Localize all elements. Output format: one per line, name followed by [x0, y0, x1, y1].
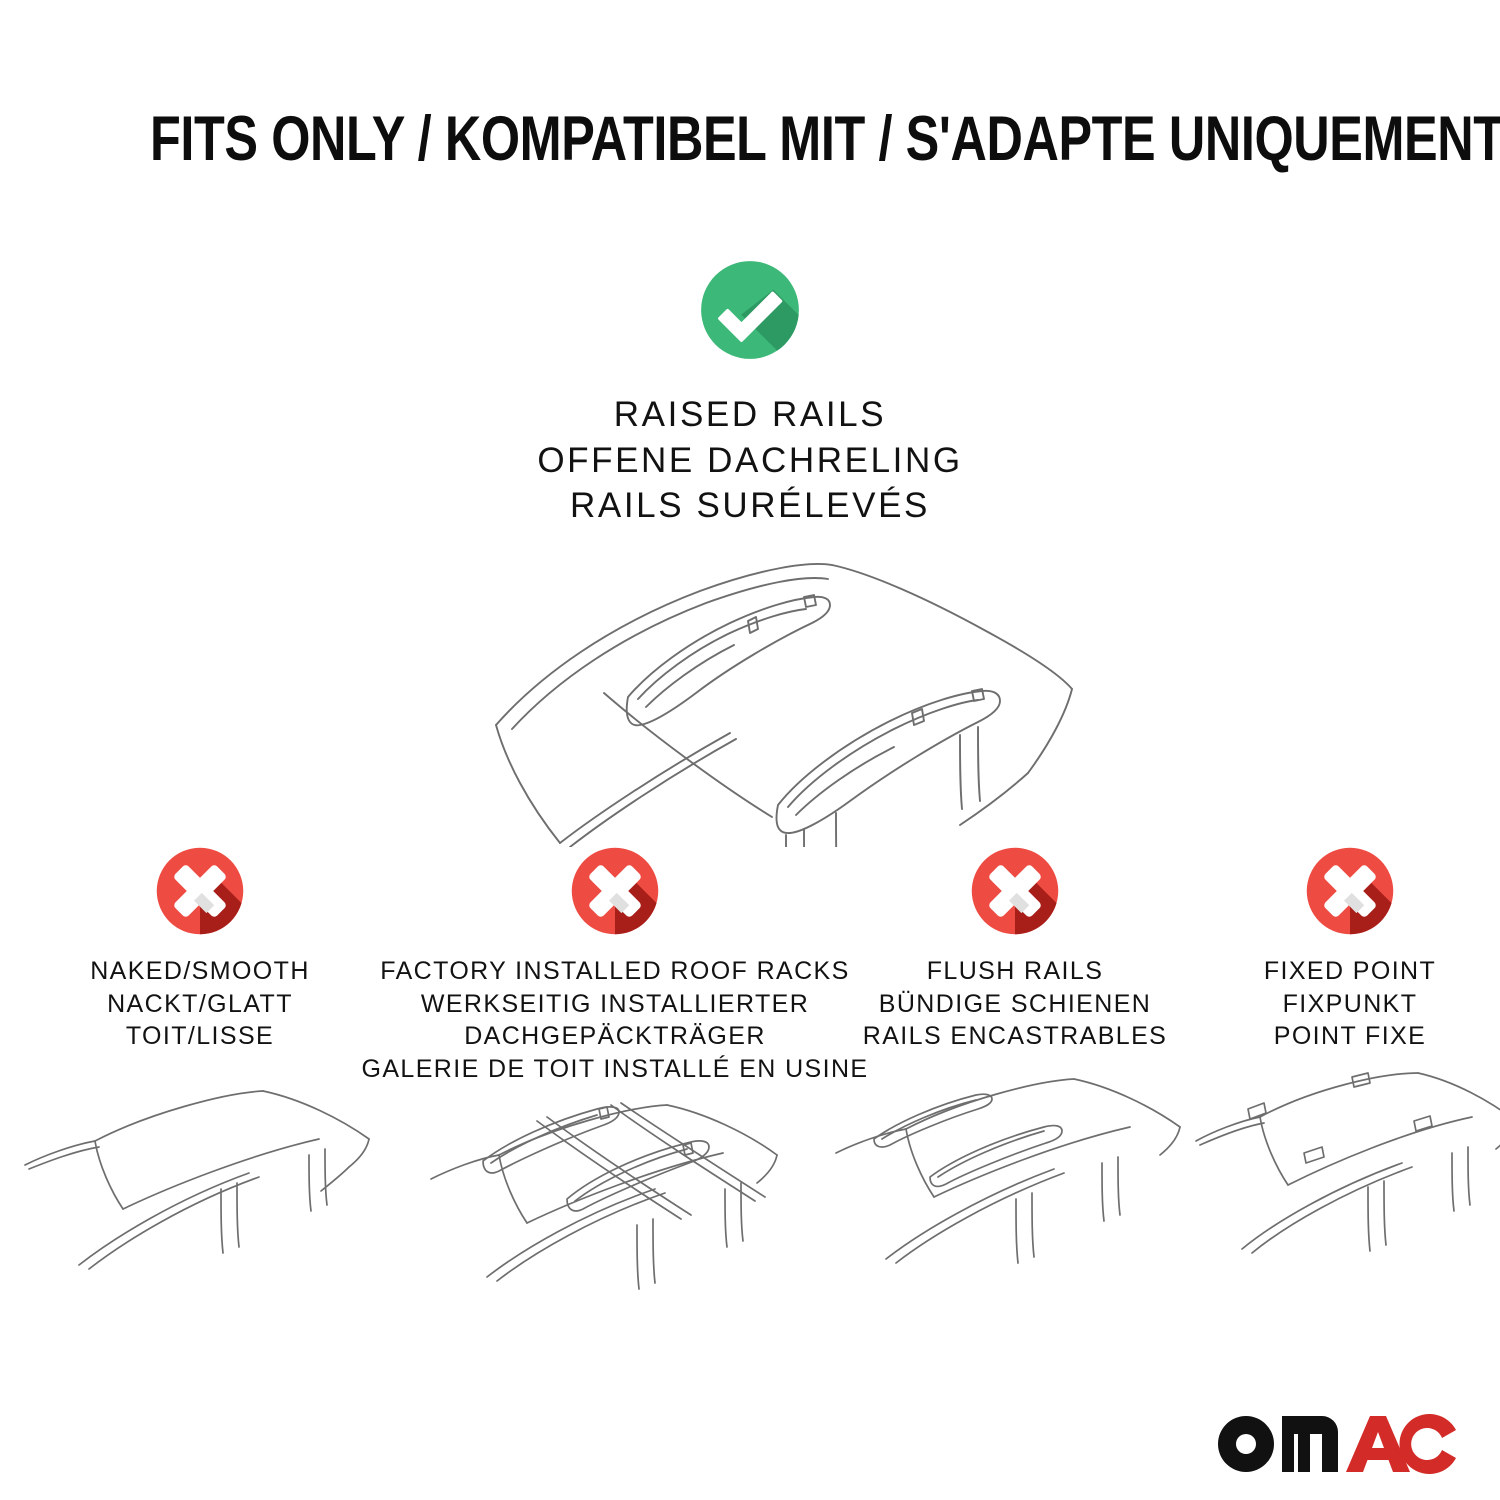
- omac-logo: [1210, 1408, 1460, 1478]
- label-fr: TOIT/LISSE: [90, 1020, 310, 1053]
- car-roof-fixed-point-illustration: [1190, 1069, 1500, 1299]
- car-roof-raised-rails-illustration: [400, 547, 1100, 847]
- label-en: FLUSH RAILS: [863, 955, 1167, 988]
- incompatible-labels: FIXED POINT FIXPUNKT POINT FIXE: [1264, 955, 1436, 1053]
- label-fr: POINT FIXE: [1264, 1020, 1436, 1053]
- incompatible-labels: FLUSH RAILS BÜNDIGE SCHIENEN RAILS ENCAS…: [863, 955, 1167, 1053]
- logo-letter-c: [1399, 1414, 1456, 1474]
- incompatible-item-flush-rails: FLUSH RAILS BÜNDIGE SCHIENEN RAILS ENCAS…: [830, 845, 1200, 1299]
- logo-letter-m: [1282, 1416, 1338, 1472]
- compatible-labels: RAISED RAILS OFFENE DACHRELING RAILS SUR…: [537, 392, 962, 529]
- cross-circle-icon: [154, 845, 246, 937]
- incompatible-labels: FACTORY INSTALLED ROOF RACKS WERKSEITIG …: [362, 955, 869, 1085]
- label-en: FACTORY INSTALLED ROOF RACKS: [362, 955, 869, 988]
- label-de-2: DACHGEPÄCKTRÄGER: [362, 1020, 869, 1053]
- logo-letter-o: [1218, 1416, 1274, 1472]
- incompatible-item-fixed-point: FIXED POINT FIXPUNKT POINT FIXE: [1200, 845, 1500, 1299]
- compatible-label-de: OFFENE DACHRELING: [537, 438, 962, 484]
- label-de-1: WERKSEITIG INSTALLIERTER: [362, 988, 869, 1021]
- label-de: BÜNDIGE SCHIENEN: [863, 988, 1167, 1021]
- label-fr: RAILS ENCASTRABLES: [863, 1020, 1167, 1053]
- label-de: NACKT/GLATT: [90, 988, 310, 1021]
- cross-circle-icon: [569, 845, 661, 937]
- incompatible-item-factory-racks: FACTORY INSTALLED ROOF RACKS WERKSEITIG …: [400, 845, 830, 1331]
- car-roof-factory-racks-illustration: [425, 1101, 805, 1331]
- check-circle-icon: [698, 258, 802, 362]
- label-fr: GALERIE DE TOIT INSTALLÉ EN USINE: [362, 1053, 869, 1086]
- page-title: FITS ONLY / KOMPATIBEL MIT / S'ADAPTE UN…: [150, 108, 1350, 171]
- incompatible-section: NAKED/SMOOTH NACKT/GLATT TOIT/LISSE: [0, 845, 1500, 1331]
- car-roof-naked-smooth-illustration: [19, 1069, 389, 1299]
- label-de: FIXPUNKT: [1264, 988, 1436, 1021]
- incompatible-labels: NAKED/SMOOTH NACKT/GLATT TOIT/LISSE: [90, 955, 310, 1053]
- compatible-label-fr: RAILS SURÉLEVÉS: [537, 483, 962, 529]
- compatible-label-en: RAISED RAILS: [537, 392, 962, 438]
- incompatible-item-naked-smooth: NAKED/SMOOTH NACKT/GLATT TOIT/LISSE: [0, 845, 400, 1299]
- car-roof-flush-rails-illustration: [830, 1069, 1200, 1299]
- label-en: NAKED/SMOOTH: [90, 955, 310, 988]
- compatible-section: RAISED RAILS OFFENE DACHRELING RAILS SUR…: [0, 258, 1500, 847]
- label-en: FIXED POINT: [1264, 955, 1436, 988]
- cross-circle-icon: [1304, 845, 1396, 937]
- cross-circle-icon: [969, 845, 1061, 937]
